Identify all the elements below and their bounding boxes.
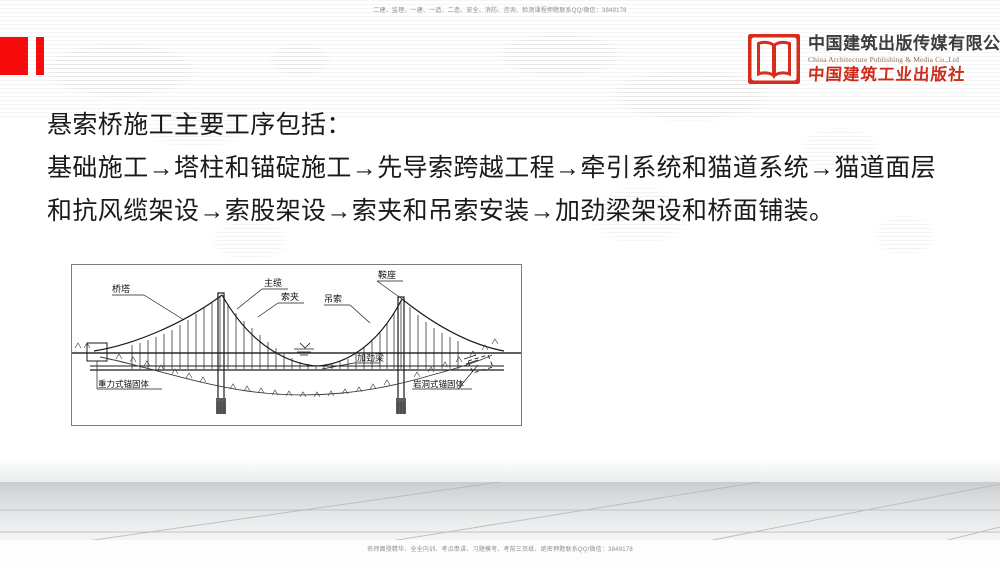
header-watermark-text: 二建、监理、一建、一造、二造、安全、消防、咨询、检测课程押题联系QQ/微信：38… [0,7,1000,16]
figure-label-hanger: 吊索 [324,293,342,304]
slide-body-text: 悬索桥施工主要工序包括： 基础施工→塔柱和锚碇施工→先导索跨越工程→牵引系统和猫… [47,104,947,233]
slide-canvas: 二建、监理、一建、一造、二造、安全、消防、咨询、检测课程押题联系QQ/微信：38… [0,0,1000,562]
logo-press-cn: 中国建筑工业出版社 [807,65,1000,85]
figure-label-saddle: 鞍座 [378,269,396,280]
figure-label-tunnel-anchorage: 岩洞式锚固体 [413,379,465,389]
logo-company-en: China Architecture Publishing & Media Co… [808,54,1000,65]
figure-label-stiffening-girder: 加劲梁 [357,352,384,363]
footer-watermark-text: 名师面授精华、全全内训、考点串讲、习题模考、考前三页纸、绝密押题联系QQ/微信：… [0,546,1000,555]
logo-text-block: 中国建筑出版传媒有限公司 China Architecture Publishi… [808,34,1000,85]
figure-label-main-cable: 主缆 [264,277,282,288]
body-heading: 悬索桥施工主要工序包括： [47,104,947,147]
body-line-2: 和抗风缆架设→索股架设→索夹和吊索安装→加劲梁架设和桥面铺装。 [47,190,947,233]
red-square-decoration [0,37,28,75]
figure-label-cable-clamp: 索夹 [281,291,299,302]
figure-label-gravity-anchorage: 重力式锚固体 [98,379,150,389]
open-book-logo-icon [748,34,800,84]
figure-label-pylon: 桥塔 [112,283,130,294]
body-line-1: 基础施工→塔柱和锚碇施工→先导索跨越工程→牵引系统和猫道系统→猫道面层 [47,147,947,190]
publisher-logo: 中国建筑出版传媒有限公司 China Architecture Publishi… [748,31,966,87]
floor-fade [0,458,1000,484]
logo-company-cn: 中国建筑出版传媒有限公司 [808,34,1000,54]
suspension-bridge-diagram: 桥塔 主缆 索夹 吊索 鞍座 加劲梁 重力式锚固体 岩洞式锚固体 [71,264,522,426]
red-bar-decoration [36,37,44,75]
